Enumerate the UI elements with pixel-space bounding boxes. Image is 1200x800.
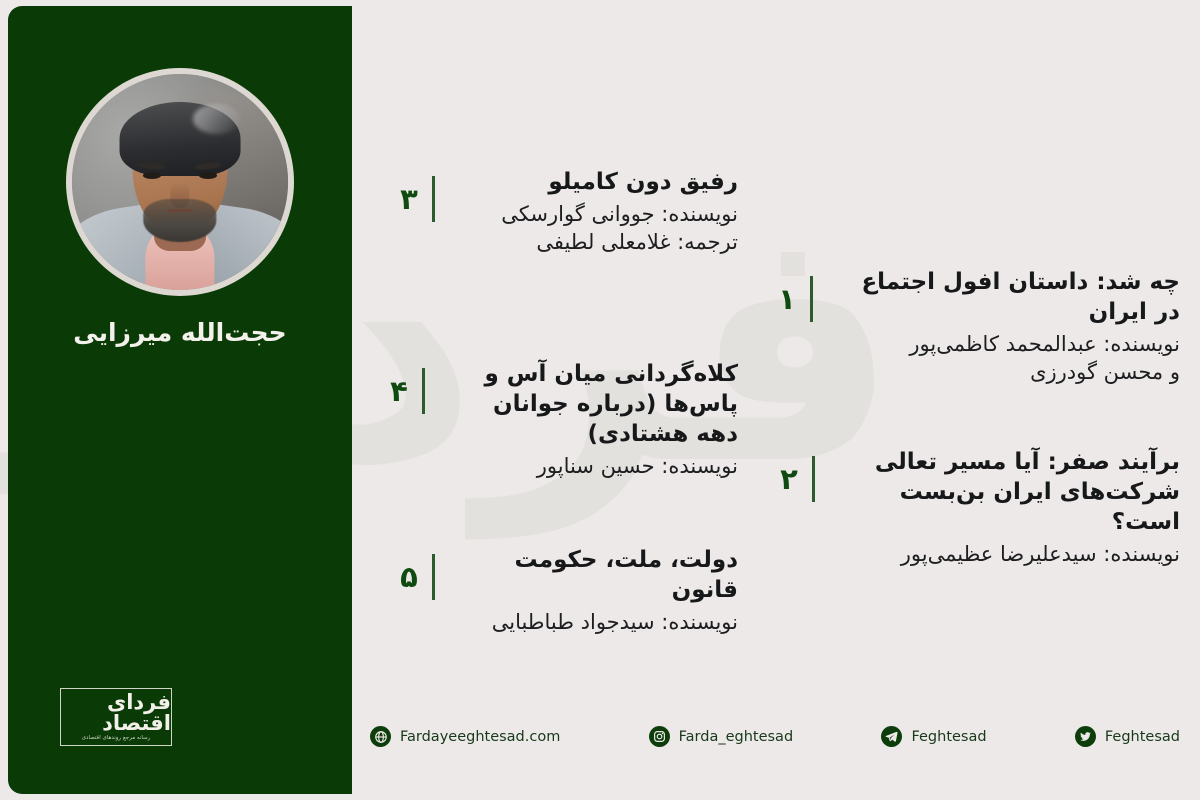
social-label-instagram: Farda_eghtesad (679, 729, 794, 745)
book-text: چه شد: داستان افول اجتماع در ایران نویسن… (828, 268, 1180, 386)
book-author: نویسنده: سیدعلیرضا عظیمی‌پور (834, 541, 1180, 569)
book-entry[interactable]: رفیق دون کامیلو نویسنده: جووانی گوارسکی … (383, 168, 738, 256)
portrait-photo (72, 74, 288, 290)
infographic-canvas: فردای اقتصاد حجت‌ال (0, 0, 1200, 800)
book-translator: ترجمه: غلامعلی لطیفی (454, 229, 738, 257)
book-divider (432, 176, 435, 222)
book-author: نویسنده: سیدجواد طباطبایی (454, 609, 738, 637)
book-number-cell: ۱ (776, 268, 828, 322)
brand-logo-title: فردای اقتصاد (61, 692, 171, 734)
brand-logo: فردای اقتصاد رسانه مرجع روندهای اقتصادی (60, 688, 172, 746)
book-number: ۱ (776, 285, 798, 314)
book-number-cell: ۵ (398, 546, 450, 600)
social-label-twitter: Feghtesad (1105, 729, 1180, 745)
book-entry[interactable]: کلاه‌گردانی میان آس و پاس‌ها (درباره جوا… (373, 360, 738, 480)
book-text: رفیق دون کامیلو نویسنده: جووانی گوارسکی … (450, 168, 738, 256)
book-divider (812, 456, 815, 502)
book-title: برآیند صفر: آیا مسیر تعالی شرکت‌های ایرا… (834, 448, 1180, 538)
social-link-telegram[interactable]: Feghtesad (881, 726, 986, 747)
social-label-website: Fardayeeghtesad.com (400, 729, 560, 745)
book-author-second: و محسن گودرزی (832, 359, 1180, 387)
book-number: ۳ (398, 185, 420, 214)
avatar (66, 68, 294, 296)
person-name: حجت‌الله میرزایی (8, 318, 352, 347)
book-text: کلاه‌گردانی میان آس و پاس‌ها (درباره جوا… (440, 360, 738, 480)
book-title: چه شد: داستان افول اجتماع در ایران (832, 268, 1180, 328)
side-panel: حجت‌الله میرزایی فردای اقتصاد رسانه مرجع… (8, 6, 352, 794)
portrait-eye-left (143, 172, 160, 179)
book-divider (422, 368, 425, 414)
book-title: کلاه‌گردانی میان آس و پاس‌ها (درباره جوا… (444, 360, 738, 450)
book-author: نویسنده: حسین سناپور (444, 453, 738, 481)
twitter-icon (1075, 726, 1096, 747)
book-divider (432, 554, 435, 600)
book-text: دولت، ملت، حکومت قانون نویسنده: سیدجواد … (450, 546, 738, 637)
book-number: ۵ (398, 563, 420, 592)
book-divider (810, 276, 813, 322)
book-entry[interactable]: چه شد: داستان افول اجتماع در ایران نویسن… (760, 268, 1180, 386)
social-link-twitter[interactable]: Feghtesad (1075, 726, 1180, 747)
book-number-cell: ۲ (778, 448, 830, 502)
book-title: دولت، ملت، حکومت قانون (454, 546, 738, 606)
book-text: برآیند صفر: آیا مسیر تعالی شرکت‌های ایرا… (830, 448, 1180, 568)
footer-social-bar: Fardayeeghtesad.com Farda_eghtesad Feght… (370, 726, 1180, 747)
book-number-cell: ۴ (388, 360, 440, 414)
social-label-telegram: Feghtesad (911, 729, 986, 745)
book-author: نویسنده: جووانی گوارسکی (454, 201, 738, 229)
book-entry[interactable]: دولت، ملت، حکومت قانون نویسنده: سیدجواد … (383, 546, 738, 637)
telegram-icon (881, 726, 902, 747)
brand-logo-tagline: رسانه مرجع روندهای اقتصادی (82, 736, 151, 742)
book-number: ۴ (388, 377, 410, 406)
globe-icon (370, 726, 391, 747)
book-author: نویسنده: عبدالمحمد کاظمی‌پور (832, 331, 1180, 359)
book-entry[interactable]: برآیند صفر: آیا مسیر تعالی شرکت‌های ایرا… (762, 448, 1180, 568)
book-title: رفیق دون کامیلو (454, 168, 738, 198)
social-link-website[interactable]: Fardayeeghtesad.com (370, 726, 560, 747)
book-number-cell: ۳ (398, 168, 450, 222)
instagram-icon (649, 726, 670, 747)
social-link-instagram[interactable]: Farda_eghtesad (649, 726, 794, 747)
book-number: ۲ (778, 465, 800, 494)
